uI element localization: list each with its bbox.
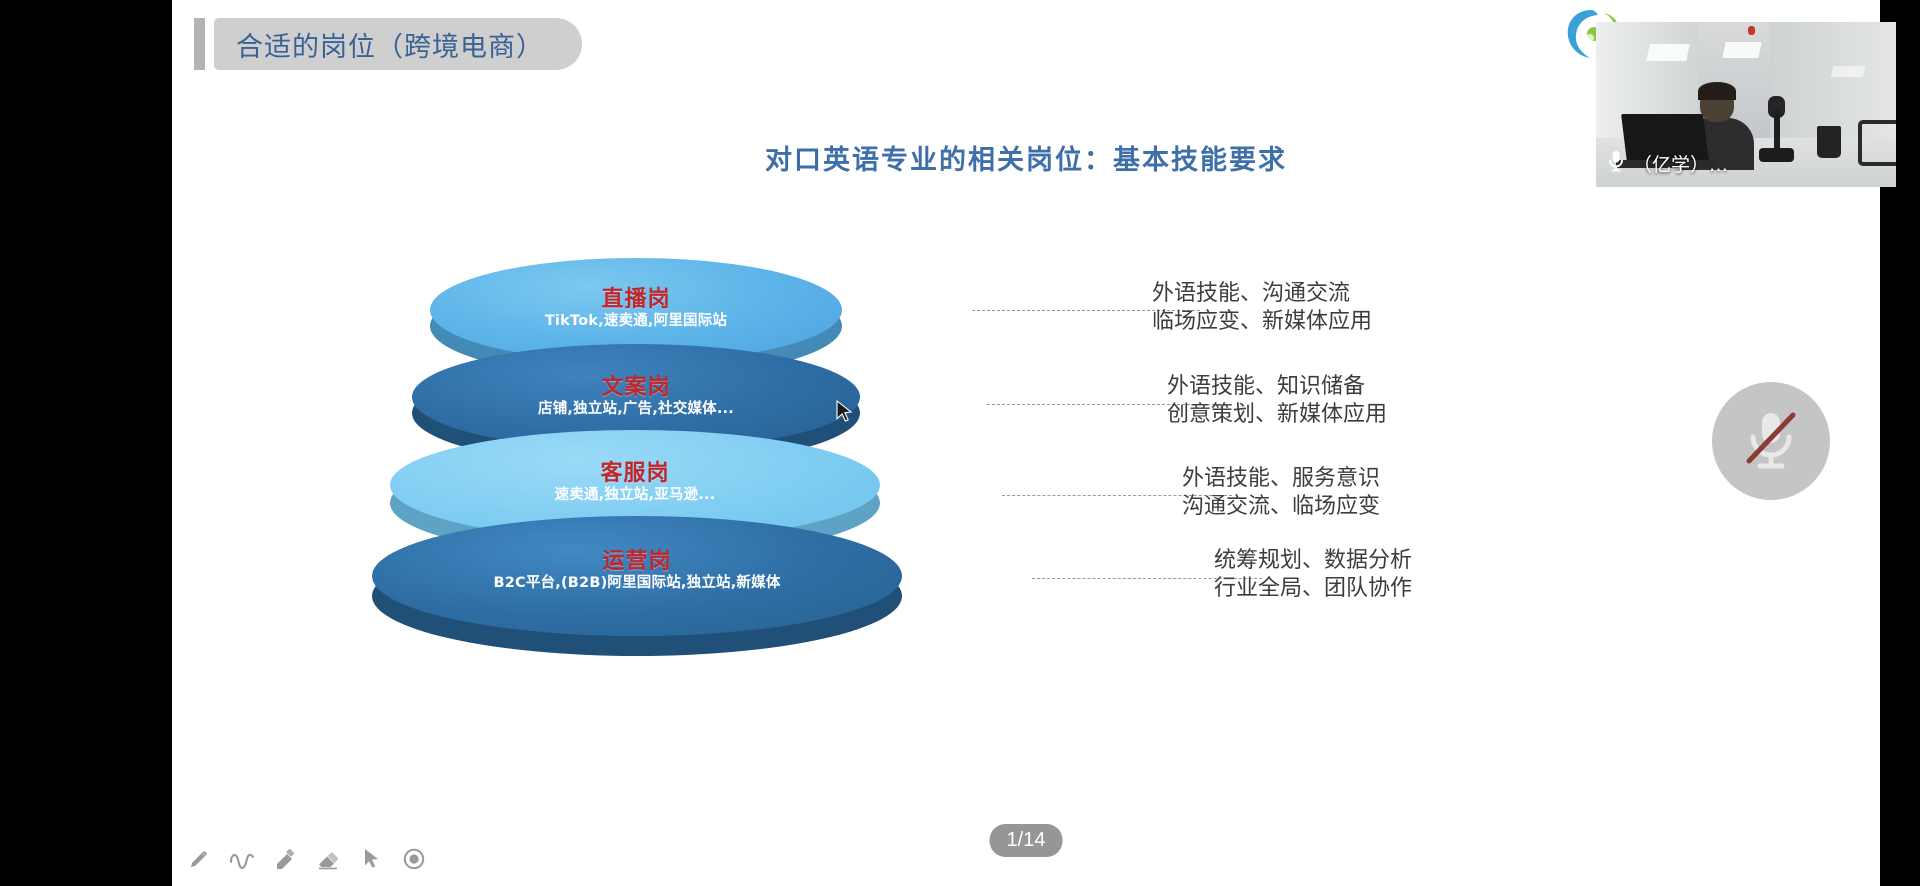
microphone-icon bbox=[1606, 149, 1626, 178]
annotation-4-line-2: 行业全局、团队协作 bbox=[1214, 575, 1412, 603]
annotation-4-line-1: 统筹规划、数据分析 bbox=[1214, 547, 1412, 575]
highlighter-icon[interactable] bbox=[272, 846, 298, 872]
eraser-icon[interactable] bbox=[315, 846, 341, 872]
layered-ellipse-diagram: 直播岗 TikTok,速卖通,阿里国际站 文案岗 店铺,独立站,广告,社交媒体.… bbox=[372, 258, 1012, 678]
annotation-1-line-1: 外语技能、沟通交流 bbox=[1152, 280, 1372, 308]
annotation-1-line-2: 临场应变、新媒体应用 bbox=[1152, 308, 1372, 336]
annotation-3-line-1: 外语技能、服务意识 bbox=[1182, 465, 1380, 493]
microphone-muted-icon bbox=[1740, 405, 1802, 478]
page-indicator: 1/14 bbox=[990, 824, 1063, 857]
pointer-icon[interactable] bbox=[358, 846, 384, 872]
video-label-text: （亿学）… bbox=[1633, 150, 1728, 177]
video-name-label: （亿学）… bbox=[1596, 143, 1896, 187]
layer-4-top bbox=[372, 516, 902, 636]
viewer-stage: 合适的岗位（跨境电商） 对口英语专业的相关岗位：基本技能要求 直播岗 TikTo… bbox=[0, 0, 1920, 886]
ceiling-light-3 bbox=[1831, 66, 1865, 77]
slide-title-text: 合适的岗位（跨境电商） bbox=[236, 25, 544, 64]
title-accent-bar bbox=[194, 18, 205, 70]
presenter-hair bbox=[1698, 82, 1736, 100]
record-icon[interactable] bbox=[401, 846, 427, 872]
ceiling-light-2 bbox=[1722, 42, 1761, 58]
recording-indicator-icon bbox=[1748, 26, 1755, 35]
presenter-video-panel[interactable]: （亿学）… bbox=[1596, 22, 1896, 187]
annotation-2-line-1: 外语技能、知识储备 bbox=[1167, 373, 1387, 401]
annotation-3: 外语技能、服务意识 沟通交流、临场应变 bbox=[1182, 465, 1380, 521]
ceiling-light-1 bbox=[1646, 44, 1690, 61]
annotation-4: 统筹规划、数据分析 行业全局、团队协作 bbox=[1214, 547, 1412, 603]
annotation-1: 外语技能、沟通交流 临场应变、新媒体应用 bbox=[1152, 280, 1372, 336]
diagram-layer-4: 运营岗 B2C平台,(B2B)阿里国际站,独立站,新媒体 bbox=[372, 516, 902, 636]
annotation-toolbar[interactable] bbox=[180, 844, 433, 874]
annotation-3-line-2: 沟通交流、临场应变 bbox=[1182, 493, 1380, 521]
title-chip: 合适的岗位（跨境电商） bbox=[214, 18, 582, 70]
slide-title: 合适的岗位（跨境电商） bbox=[194, 18, 582, 70]
pen-icon[interactable] bbox=[186, 846, 212, 872]
mute-button[interactable] bbox=[1712, 382, 1830, 500]
curve-icon[interactable] bbox=[229, 846, 255, 872]
annotation-2-line-2: 创意策划、新媒体应用 bbox=[1167, 401, 1387, 429]
annotation-2: 外语技能、知识储备 创意策划、新媒体应用 bbox=[1167, 373, 1387, 429]
